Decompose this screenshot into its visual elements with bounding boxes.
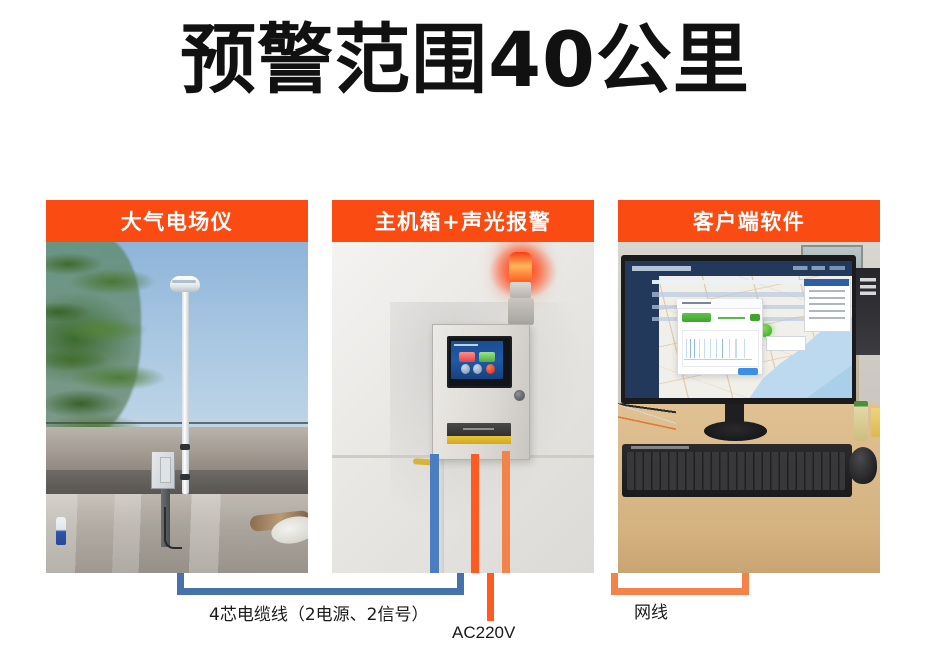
water-bottle	[56, 517, 66, 545]
right-panel-row-4	[809, 310, 845, 312]
right-panel-row-3	[809, 303, 845, 305]
pole-clamp-lower	[180, 474, 190, 480]
photo-atmospheric-field-mill	[46, 242, 308, 573]
alarm-beacon-base	[510, 282, 531, 299]
cable-red-power	[471, 454, 479, 573]
cabinet-nameplate-text	[463, 428, 494, 430]
junction-box-panel	[160, 457, 171, 483]
app-dialog-title	[682, 302, 711, 304]
sidebar-item-1[interactable]	[652, 280, 811, 284]
pole-clamp-upper	[180, 444, 190, 450]
cabinet-lock-knob	[514, 390, 525, 401]
desk-cables	[618, 398, 676, 441]
right-panel-row-2	[809, 297, 845, 299]
app-dialog-slider[interactable]	[718, 317, 745, 319]
sensor-pole	[182, 285, 189, 494]
keyboard-brand-label	[631, 446, 689, 449]
drink-bottle	[854, 401, 868, 441]
connector-network-cable-left-riser	[611, 573, 749, 595]
app-dialog-chart-line	[684, 339, 752, 358]
sensor-cable	[164, 507, 182, 549]
app-dialog-chart-axis	[684, 359, 752, 360]
app-dialog-confirm-button[interactable]	[738, 368, 757, 375]
panel-header-atmospheric-field-mill: 大气电场仪	[46, 200, 308, 242]
mouse[interactable]	[849, 447, 878, 483]
connector-signal-power-cable	[177, 573, 464, 595]
photo-main-cabinet-alarm	[332, 242, 594, 573]
monitor-stand-base	[704, 421, 767, 441]
desk-front-edge	[618, 520, 880, 573]
app-header-menu[interactable]	[793, 266, 845, 271]
sidebar-item-2[interactable]	[652, 292, 811, 296]
monitor-screen	[625, 261, 852, 398]
cable-orange-network	[502, 451, 510, 573]
cabinet-yellow-strip	[447, 436, 511, 444]
app-logo-title	[632, 266, 691, 271]
field-mill-sensor-head	[170, 276, 200, 292]
alarm-beacon-bracket	[508, 298, 534, 324]
app-right-panel-header	[804, 279, 849, 286]
connector-label-network-cable: 网线	[634, 598, 668, 623]
connector-label-signal-power-cable: 4芯电缆线（2电源、2信号）	[209, 600, 428, 625]
panel-atmospheric-field-mill: 大气电场仪	[46, 200, 308, 573]
panel-client-software: 客户端软件	[618, 200, 880, 573]
app-dialog-status-button[interactable]	[682, 313, 711, 322]
railing	[46, 422, 308, 424]
photo-client-software	[618, 242, 880, 573]
map-marker-tooltip	[766, 336, 807, 350]
sensor-head-band	[172, 280, 196, 283]
concrete-wall	[46, 427, 308, 473]
right-panel-row-1	[809, 290, 845, 292]
hmi-green-button	[479, 352, 495, 362]
connector-label-ac-power: AC220V	[452, 623, 515, 643]
panel-header-main-cabinet-alarm: 主机箱+声光报警	[332, 200, 594, 242]
right-panel-row-5	[809, 317, 845, 319]
hmi-title-bar	[454, 344, 478, 346]
cable-blue-signal	[430, 454, 439, 573]
side-equipment-vents	[860, 278, 876, 298]
hmi-red-button	[459, 352, 475, 362]
page-title: 预警范围40公里	[0, 14, 930, 106]
alarm-beacon-icon	[509, 252, 533, 283]
connector-ac-power	[487, 573, 494, 621]
desk-cup	[871, 408, 880, 438]
panel-main-cabinet-alarm: 主机箱+声光报警	[332, 200, 594, 573]
app-dialog-chip[interactable]	[750, 314, 760, 322]
panel-header-client-software: 客户端软件	[618, 200, 880, 242]
keyboard-keys[interactable]	[627, 452, 844, 490]
